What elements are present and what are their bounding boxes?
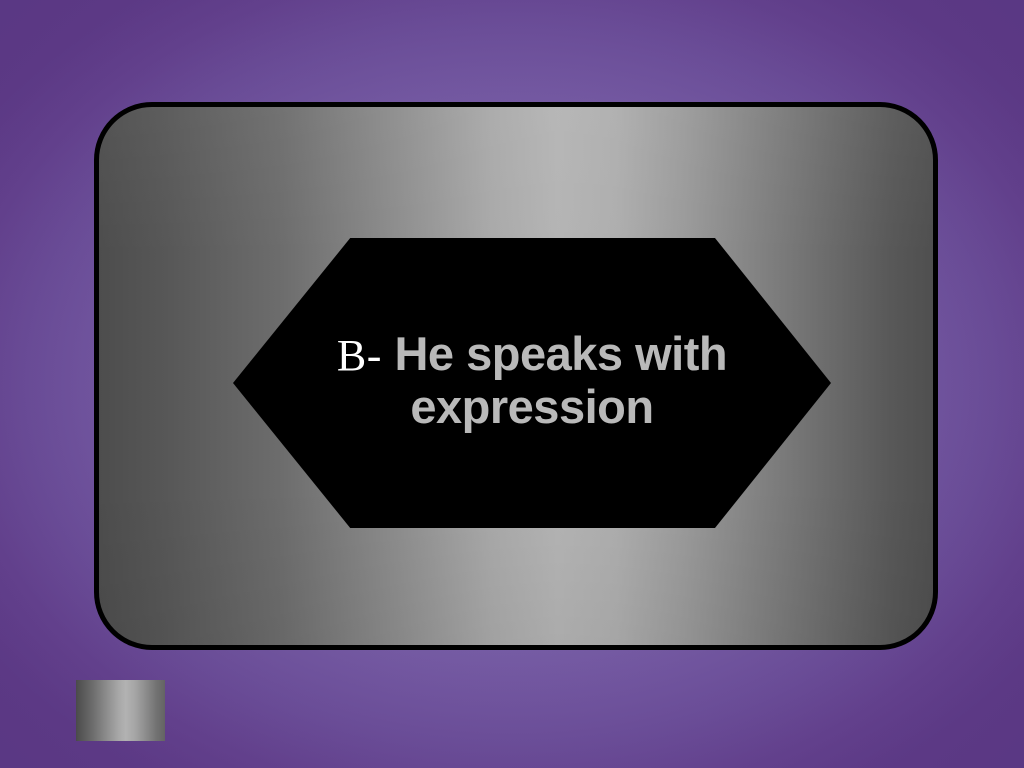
- quiz-answer-slide: B- He speaks with expression: [0, 0, 1024, 768]
- answer-hexagon[interactable]: B- He speaks with expression: [233, 238, 831, 528]
- answer-option-label: B-: [337, 331, 382, 380]
- answer-option-text: [382, 327, 395, 380]
- answer-text-block: B- He speaks with expression: [275, 328, 789, 437]
- answer-option-body: He speaks with expression: [394, 327, 727, 433]
- return-button[interactable]: [76, 680, 165, 741]
- answer-panel[interactable]: B- He speaks with expression: [94, 102, 938, 650]
